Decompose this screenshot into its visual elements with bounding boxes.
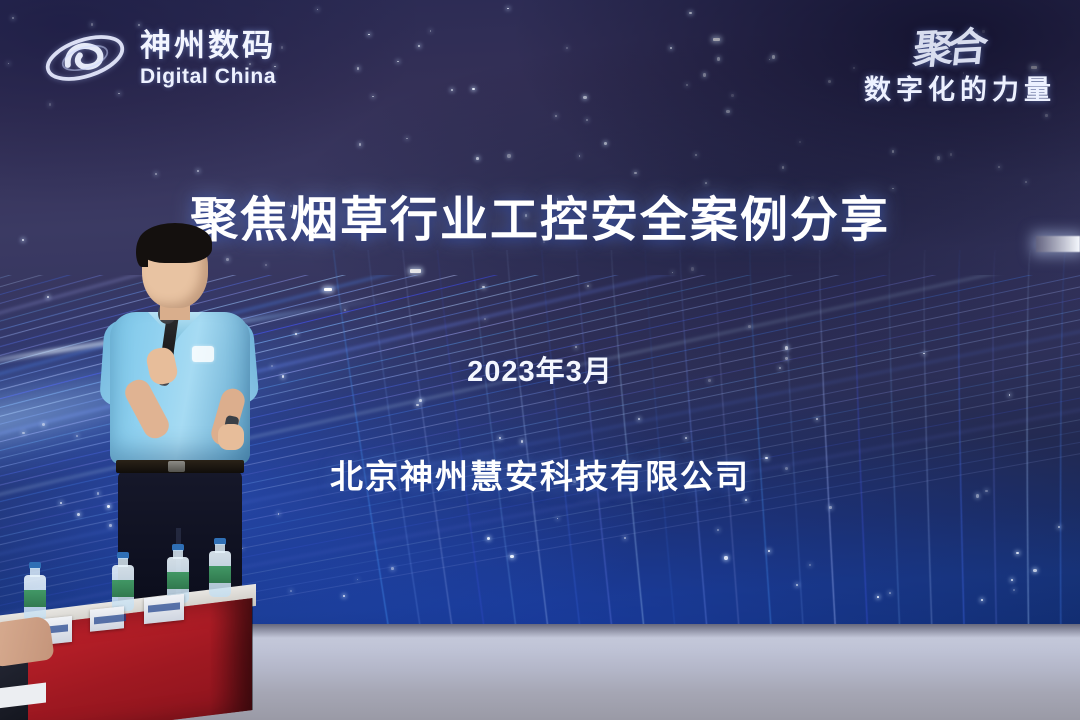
name-placard xyxy=(90,606,124,632)
brand-name-cn: 神州数码 xyxy=(140,30,276,61)
digital-china-logo: 神州数码 Digital China xyxy=(42,18,292,98)
brand-name-en: Digital China xyxy=(140,66,276,87)
belt-buckle xyxy=(168,461,185,472)
name-placard xyxy=(144,594,184,624)
galaxy-swirl-icon xyxy=(42,27,128,89)
presenter-hair xyxy=(138,223,212,263)
edge-light-strip xyxy=(1036,236,1080,252)
event-logo: 聚合 数字化的力量 xyxy=(794,16,1056,116)
polo-chest-logo xyxy=(192,346,214,362)
event-calligraphy: 聚合 xyxy=(911,14,986,75)
screenshot-root: 神州数码 Digital China 聚合 数字化的力量 聚焦烟草行业工控安全案… xyxy=(0,0,1080,720)
presenter-hand-right xyxy=(218,424,244,450)
event-slogan: 数字化的力量 xyxy=(864,68,1056,107)
foreground-attendee xyxy=(0,612,60,720)
attendee-arm xyxy=(0,615,55,668)
